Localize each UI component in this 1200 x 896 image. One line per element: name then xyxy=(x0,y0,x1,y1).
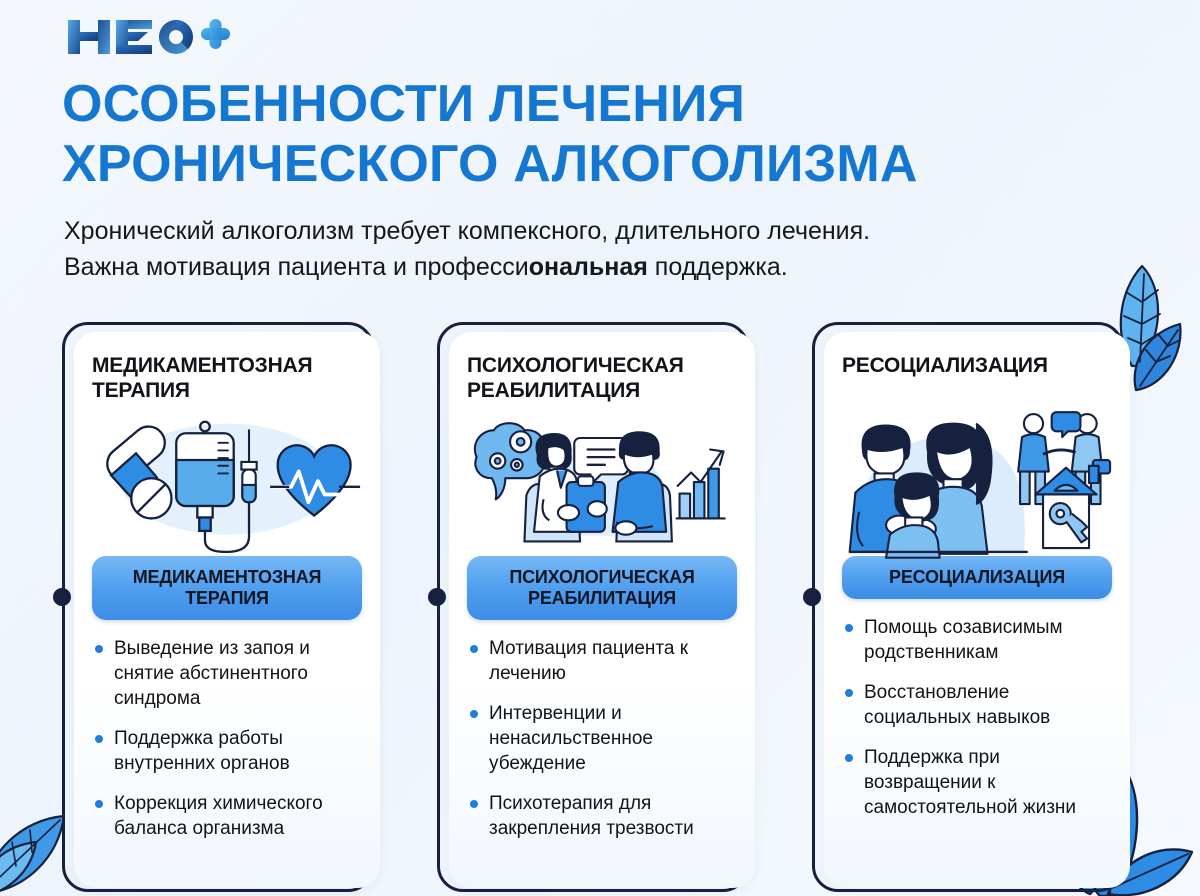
card-body: ПСИХОЛОГИЧЕСКАЯ РЕАБИЛИТАЦИЯ xyxy=(449,332,755,888)
stage-card-psychological-rehab[interactable]: ПСИХОЛОГИЧЕСКАЯ РЕАБИЛИТАЦИЯ xyxy=(437,322,749,892)
logo-letter-e xyxy=(116,20,152,54)
card-heading-line-1: ПСИХОЛОГИЧЕСКАЯ xyxy=(467,354,737,379)
list-item: Коррекция химического баланса организма xyxy=(92,791,362,841)
card-bullet-list: Выведение из запоя и снятие абстинентног… xyxy=(92,636,362,842)
illustration-pills-iv-drip-heart-pulse xyxy=(92,410,362,556)
page-subtitle-line-1: Хронический алкоголизм требует компексно… xyxy=(64,214,1154,250)
logo-letter-o xyxy=(159,20,193,54)
list-item: Восстановление социальных навыков xyxy=(842,680,1112,730)
list-item: Интервенции и ненасильственное убеждение xyxy=(467,701,737,776)
page-title-line-1: ОСОБЕННОСТИ ЛЕЧЕНИЯ xyxy=(62,74,1142,134)
card-badge-line-2: ТЕРАПИЯ xyxy=(100,588,354,609)
list-item: Психотерапия для закрепления трезвости xyxy=(467,791,737,841)
subtitle-text-before: Важна мотивация пациента и професси xyxy=(64,253,529,281)
arrow-right-icon xyxy=(390,892,436,896)
list-item: Мотивация пациента к лечению xyxy=(467,636,737,686)
card-heading-line-2: РЕАБИЛИТАЦИЯ xyxy=(467,379,737,404)
card-badge-line-1: МЕДИКАМЕНТОЗНАЯ xyxy=(100,567,354,588)
page-subtitle-line-2: Важна мотивация пациента и профессиональ… xyxy=(64,250,1154,286)
logo-letter-h xyxy=(68,20,110,54)
growth-chart-icon xyxy=(676,449,726,518)
subtitle-text-bold: ональная xyxy=(529,253,648,281)
brand-logo[interactable] xyxy=(64,14,234,60)
connector-dot-icon xyxy=(53,588,71,606)
page-subtitle: Хронический алкоголизм требует компексно… xyxy=(64,214,1154,285)
list-item: Поддержка при возвращении к самостоятель… xyxy=(842,745,1112,820)
round-tablet-icon xyxy=(131,478,171,518)
arrow-right-icon xyxy=(765,892,811,896)
card-body: МЕДИКАМЕНТОЗНАЯ ТЕРАПИЯ xyxy=(74,332,380,888)
card-heading: МЕДИКАМЕНТОЗНАЯ ТЕРАПИЯ xyxy=(92,354,362,406)
card-heading-line-1: РЕСОЦИАЛИЗАЦИЯ xyxy=(842,354,1112,379)
card-badge[interactable]: МЕДИКАМЕНТОЗНАЯ ТЕРАПИЯ xyxy=(92,556,362,620)
card-heading-line-1: МЕДИКАМЕНТОЗНАЯ xyxy=(92,354,362,379)
card-badge[interactable]: ПСИХОЛОГИЧЕСКАЯ РЕАБИЛИТАЦИЯ xyxy=(467,556,737,620)
page-title: ОСОБЕННОСТИ ЛЕЧЕНИЯ ХРОНИЧЕСКОГО АЛКОГОЛ… xyxy=(62,74,1142,195)
treatment-stages-row: МЕДИКАМЕНТОЗНАЯ ТЕРАПИЯ xyxy=(0,322,1200,896)
card-badge-line-1: РЕСОЦИАЛИЗАЦИЯ xyxy=(850,567,1104,588)
card-badge-line-1: ПСИХОЛОГИЧЕСКАЯ xyxy=(475,567,729,588)
connector-dot-icon xyxy=(428,588,446,606)
card-heading: ПСИХОЛОГИЧЕСКАЯ РЕАБИЛИТАЦИЯ xyxy=(467,354,737,406)
card-badge-line-2: РЕАБИЛИТАЦИЯ xyxy=(475,588,729,609)
list-item: Выведение из запоя и снятие абстинентног… xyxy=(92,636,362,711)
card-heading: РЕСОЦИАЛИЗАЦИЯ xyxy=(842,354,1112,406)
list-item: Поддержка работы внутренних органов xyxy=(92,726,362,776)
card-heading-line-2: ТЕРАПИЯ xyxy=(92,379,362,404)
subtitle-text-after: поддержка. xyxy=(648,253,788,281)
card-badge[interactable]: РЕСОЦИАЛИЗАЦИЯ xyxy=(842,556,1112,599)
illustration-family-handshake-house-key xyxy=(842,410,1112,556)
stage-card-medication[interactable]: МЕДИКАМЕНТОЗНАЯ ТЕРАПИЯ xyxy=(62,322,374,892)
list-item: Помощь созависимым родственникам xyxy=(842,615,1112,665)
card-bullet-list: Мотивация пациента к лечению Интервенции… xyxy=(467,636,737,842)
connector-dot-icon xyxy=(803,588,821,606)
page-title-line-2: ХРОНИЧЕСКОГО АЛКОГОЛИЗМА xyxy=(62,134,1142,194)
illustration-brain-gears-therapist-patient-growth-chart xyxy=(467,410,737,556)
stage-card-resocialization[interactable]: РЕСОЦИАЛИЗАЦИЯ xyxy=(812,322,1124,892)
card-body: РЕСОЦИАЛИЗАЦИЯ xyxy=(824,332,1130,888)
card-bullet-list: Помощь созависимым родственникам Восстан… xyxy=(842,615,1112,821)
patient-figure-icon xyxy=(613,432,667,534)
logo-plus-icon xyxy=(201,19,230,49)
